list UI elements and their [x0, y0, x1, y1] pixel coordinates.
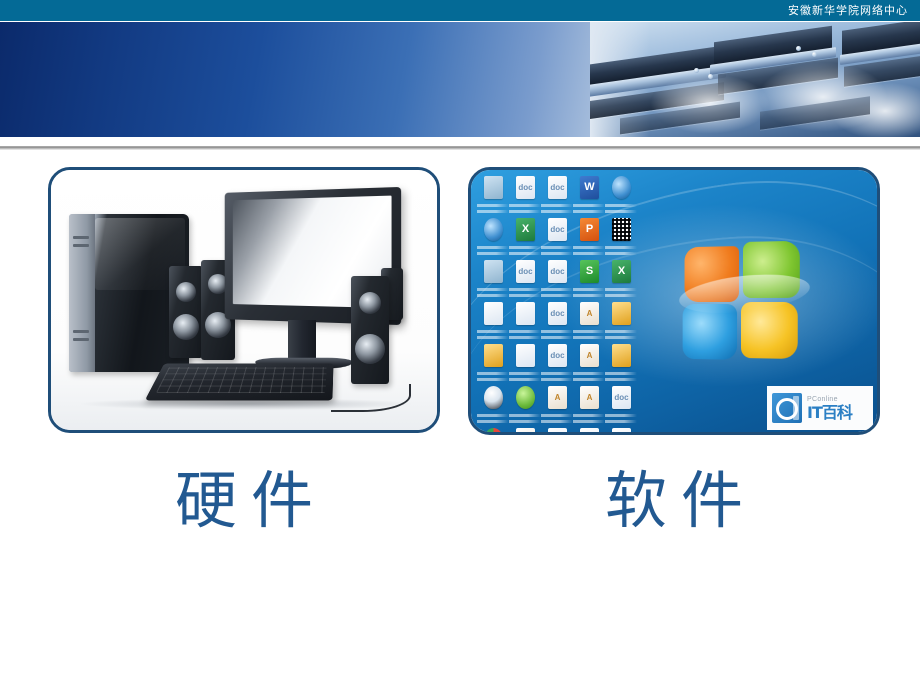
desktop-icon[interactable]: [477, 342, 509, 384]
desktop-icon[interactable]: [477, 216, 509, 258]
pconline-sub-label: IT百科: [807, 405, 852, 421]
desktop-icon[interactable]: [605, 216, 637, 258]
pconline-brand-label: PConline: [807, 396, 852, 403]
desktop-icon[interactable]: doc: [541, 426, 573, 432]
header-banner: [0, 22, 920, 137]
desktop-icon[interactable]: W: [573, 174, 605, 216]
windows-logo-icon: [683, 241, 806, 368]
hardware-caption: 硬件: [48, 470, 440, 532]
software-caption: 软件: [468, 470, 880, 532]
desktop-icon[interactable]: [605, 300, 637, 342]
desktop-computer-photo: [51, 170, 437, 430]
desktop-icon[interactable]: S: [573, 258, 605, 300]
desktop-icon[interactable]: P: [573, 216, 605, 258]
desktop-icon[interactable]: [477, 426, 509, 432]
desktop-icon[interactable]: A: [573, 342, 605, 384]
desktop-icon[interactable]: [509, 342, 541, 384]
desktop-icon[interactable]: [477, 384, 509, 426]
header-divider: [0, 146, 920, 150]
desktop-icon[interactable]: doc: [509, 258, 541, 300]
pconline-watermark: PConline IT百科: [767, 386, 873, 430]
desktop-icon[interactable]: A: [573, 300, 605, 342]
circuit-board-image: [590, 22, 920, 137]
desktop-icon[interactable]: A: [573, 384, 605, 426]
desktop-icon[interactable]: doc: [541, 216, 573, 258]
desktop-icon[interactable]: [509, 300, 541, 342]
hardware-image-panel: [48, 167, 440, 433]
speaker-right: [351, 276, 389, 384]
desktop-icon[interactable]: doc: [541, 174, 573, 216]
desktop-icon[interactable]: doc: [509, 174, 541, 216]
top-title-bar: 安徽新华学院网络中心: [0, 0, 920, 21]
desktop-icon[interactable]: doc: [573, 426, 605, 432]
desktop-icon[interactable]: doc: [541, 300, 573, 342]
desktop-icon[interactable]: A: [509, 426, 541, 432]
desktop-icon[interactable]: doc: [541, 342, 573, 384]
desktop-icon[interactable]: [477, 258, 509, 300]
computer-keyboard: [145, 364, 334, 401]
desktop-icon-grid[interactable]: doc doc W X doc P doc doc S X doc A doc …: [477, 174, 637, 432]
organization-title: 安徽新华学院网络中心: [788, 2, 908, 18]
software-image-panel: doc doc W X doc P doc doc S X doc A doc …: [468, 167, 880, 435]
desktop-icon[interactable]: [477, 300, 509, 342]
pconline-book-icon: [772, 393, 802, 423]
desktop-icon[interactable]: [509, 384, 541, 426]
desktop-icon[interactable]: [605, 174, 637, 216]
desktop-icon[interactable]: [605, 342, 637, 384]
speaker-left: [169, 266, 203, 358]
desktop-icon[interactable]: X: [605, 258, 637, 300]
desktop-icon[interactable]: A: [541, 384, 573, 426]
desktop-icon[interactable]: [605, 426, 637, 432]
windows-desktop-screenshot: doc doc W X doc P doc doc S X doc A doc …: [471, 170, 877, 432]
desktop-icon[interactable]: X: [509, 216, 541, 258]
desktop-icon[interactable]: [477, 174, 509, 216]
monitor-stand-neck: [288, 320, 316, 358]
desktop-icon[interactable]: doc: [605, 384, 637, 426]
desktop-icon[interactable]: doc: [541, 258, 573, 300]
